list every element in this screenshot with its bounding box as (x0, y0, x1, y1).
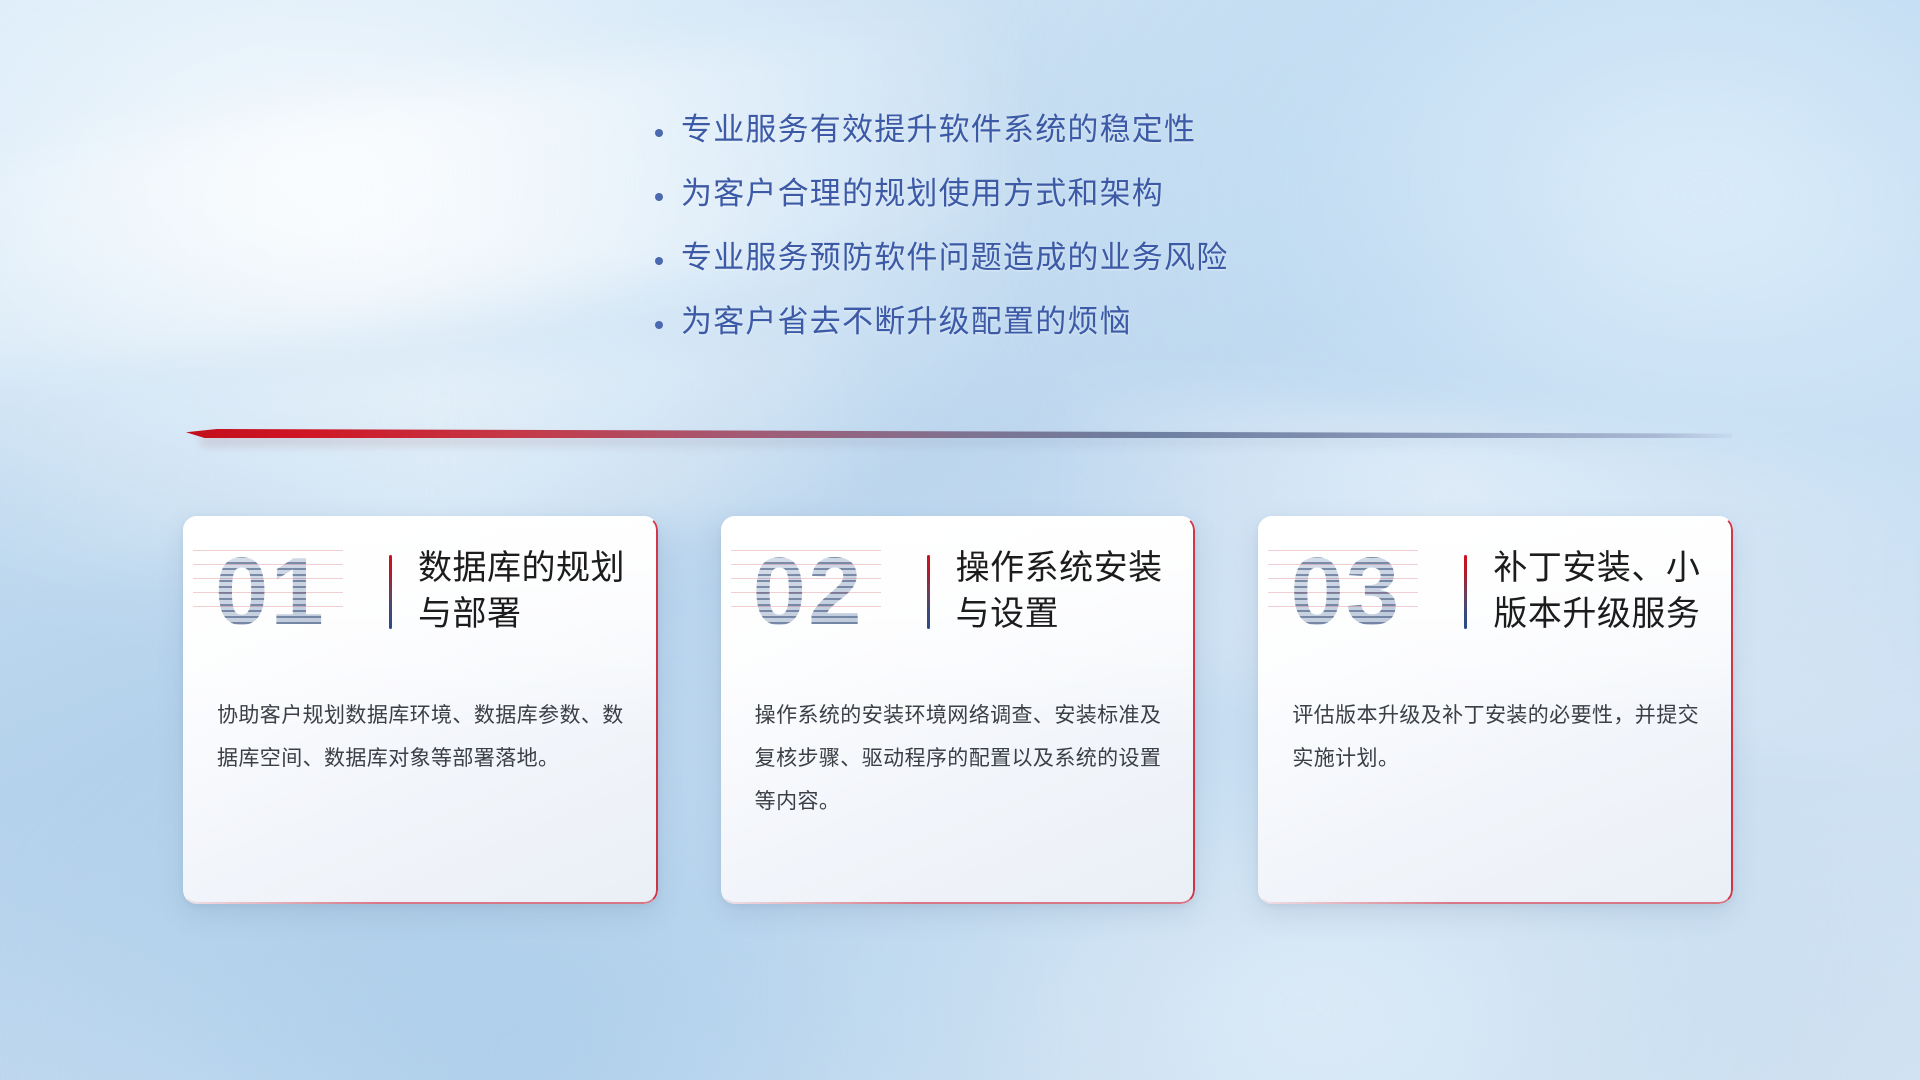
card-description: 评估版本升级及补丁安装的必要性，并提交实施计划。 (1292, 694, 1699, 780)
section-divider (186, 424, 1732, 450)
card-title: 操作系统安装与设置 (956, 546, 1196, 637)
card-title: 补丁安装、小版本升级服务 (1493, 546, 1733, 637)
bullet-text: 为客户合理的规划使用方式和架构 (681, 168, 1164, 213)
bullet-dot-icon (655, 257, 681, 265)
card-description: 操作系统的安装环境网络调查、安装标准及复核步骤、驱动程序的配置以及系统的设置等内… (755, 694, 1162, 823)
card-title: 数据库的规划与部署 (418, 546, 658, 637)
bullet-item: 为客户省去不断升级配置的烦恼 (655, 296, 1415, 360)
card-divider-rule (927, 555, 930, 629)
bullet-text: 专业服务预防软件问题造成的业务风险 (681, 232, 1228, 277)
service-card[interactable]: 03 补丁安装、小版本升级服务 评估版本升级及补丁安装的必要性，并提交实施计划。 (1258, 516, 1733, 904)
card-number: 02 (747, 544, 927, 640)
card-number: 01 (209, 544, 389, 640)
service-card-list: 01 数据库的规划与部署 协助客户规划数据库环境、数据库参数、数据库空间、数据库… (183, 516, 1733, 908)
card-header: 02 操作系统安装与设置 (721, 516, 1196, 668)
service-card[interactable]: 01 数据库的规划与部署 协助客户规划数据库环境、数据库参数、数据库空间、数据库… (183, 516, 658, 904)
card-description: 协助客户规划数据库环境、数据库参数、数据库空间、数据库对象等部署落地。 (217, 694, 624, 780)
card-header: 03 补丁安装、小版本升级服务 (1258, 516, 1733, 668)
bullet-dot-icon (655, 129, 681, 137)
bullet-text: 专业服务有效提升软件系统的稳定性 (681, 104, 1196, 149)
divider-shadow (201, 437, 1716, 445)
card-divider-rule (389, 555, 392, 629)
bullet-item: 专业服务预防软件问题造成的业务风险 (655, 232, 1415, 296)
bullet-dot-icon (655, 321, 681, 329)
bullet-item: 为客户合理的规划使用方式和架构 (655, 168, 1415, 232)
bullet-dot-icon (655, 193, 681, 201)
card-divider-rule (1464, 555, 1467, 629)
service-card[interactable]: 02 操作系统安装与设置 操作系统的安装环境网络调查、安装标准及复核步骤、驱动程… (721, 516, 1196, 904)
benefits-bullet-list: 专业服务有效提升软件系统的稳定性 为客户合理的规划使用方式和架构 专业服务预防软… (655, 104, 1415, 360)
bullet-item: 专业服务有效提升软件系统的稳定性 (655, 104, 1415, 168)
divider-gradient-line (186, 429, 1732, 438)
card-header: 01 数据库的规划与部署 (183, 516, 658, 668)
card-number: 03 (1284, 544, 1464, 640)
bullet-text: 为客户省去不断升级配置的烦恼 (681, 296, 1132, 341)
